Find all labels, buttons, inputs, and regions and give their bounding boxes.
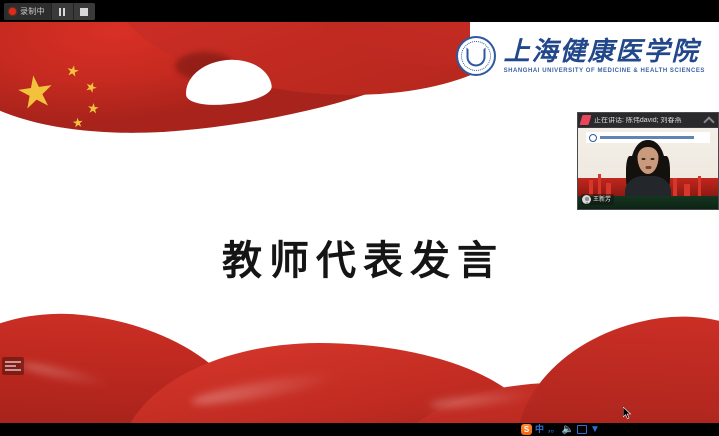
presentation-slide: ★ ★ ★ ★ ★ 上海健康医学院 SHANGHAI UNIVERSITY OF… (0, 22, 719, 423)
university-logo: 上海健康医学院 SHANGHAI UNIVERSITY OF MEDICINE … (456, 36, 705, 76)
skyline-shape-4 (673, 178, 677, 196)
chinese-flag-graphic: ★ ★ ★ ★ ★ (0, 22, 470, 166)
video-panel-header[interactable]: 正在讲话: 陈伟david; 刘春燕 (578, 113, 718, 128)
wave-right (500, 313, 719, 423)
recording-status-label: 录制中 (20, 8, 45, 16)
notes-line-3 (5, 369, 21, 371)
banner-text-line (600, 136, 706, 139)
stop-recording-button[interactable] (73, 3, 95, 20)
pause-icon (59, 8, 65, 16)
ime-soft-keyboard-icon[interactable] (577, 425, 587, 434)
speaker-mouth (645, 166, 651, 169)
video-feed[interactable]: 王新芳 (578, 128, 718, 209)
skyline-shape-5 (684, 184, 690, 196)
speaker-torso (625, 176, 671, 198)
sogou-logo-icon[interactable]: S (521, 424, 532, 435)
university-name-english: SHANGHAI UNIVERSITY OF MEDICINE & HEALTH… (504, 68, 705, 74)
flag-large-star-icon: ★ (13, 68, 58, 117)
speaking-indicator-icon (580, 115, 592, 125)
flag-small-star-icon-4: ★ (71, 115, 84, 129)
speaker-figure (625, 140, 671, 198)
video-conference-panel[interactable]: 正在讲话: 陈伟david; 刘春燕 (577, 112, 719, 210)
collapse-panel-icon[interactable] (703, 115, 715, 125)
ime-language-mode-button[interactable]: 中 (535, 425, 544, 434)
university-emblem-icon (456, 36, 496, 76)
ime-toolbox-icon[interactable]: ▼ (590, 425, 600, 434)
banner-emblem-icon (589, 134, 597, 142)
taskbar: S 中 ，。 🔈 ▼ (0, 423, 719, 436)
participant-avatar-icon (582, 195, 591, 204)
participant-name-label: 王新芳 (593, 197, 611, 203)
notes-line-2 (5, 365, 16, 367)
university-name-chinese: 上海健康医学院 (504, 39, 705, 65)
ime-punctuation-button[interactable]: ，。 (547, 425, 559, 434)
slide-notes-chip[interactable] (2, 357, 24, 375)
pause-recording-button[interactable] (51, 3, 73, 20)
stop-icon (80, 8, 88, 16)
speaker-eye-right (651, 158, 655, 160)
participant-name-badge: 王新芳 (581, 194, 614, 205)
flag-small-star-icon-3: ★ (86, 100, 100, 115)
skyline-shape-2 (598, 174, 601, 196)
screen-capture-window: 录制中 ★ ★ ★ ★ ★ 上海健康医学院 SHANGHA (0, 0, 719, 436)
recording-status: 录制中 (4, 3, 51, 20)
red-silk-wave-graphic (0, 313, 719, 423)
ime-apps-grid-icon[interactable] (603, 425, 613, 434)
ime-voice-input-icon[interactable]: 🔈 (562, 425, 574, 435)
recording-dot-icon (9, 8, 16, 15)
recording-control-bar: 录制中 (4, 3, 95, 20)
notes-line-1 (5, 361, 21, 363)
ime-toolbar[interactable]: S 中 ，。 🔈 ▼ (518, 423, 616, 436)
speaker-eye-left (642, 158, 646, 160)
active-speaker-label: 正在讲话: 陈伟david; 刘春燕 (594, 117, 699, 124)
slide-title: 教师代表发言 (0, 228, 719, 286)
skyline-shape-6 (698, 176, 701, 196)
university-logo-text: 上海健康医学院 SHANGHAI UNIVERSITY OF MEDICINE … (504, 39, 705, 74)
